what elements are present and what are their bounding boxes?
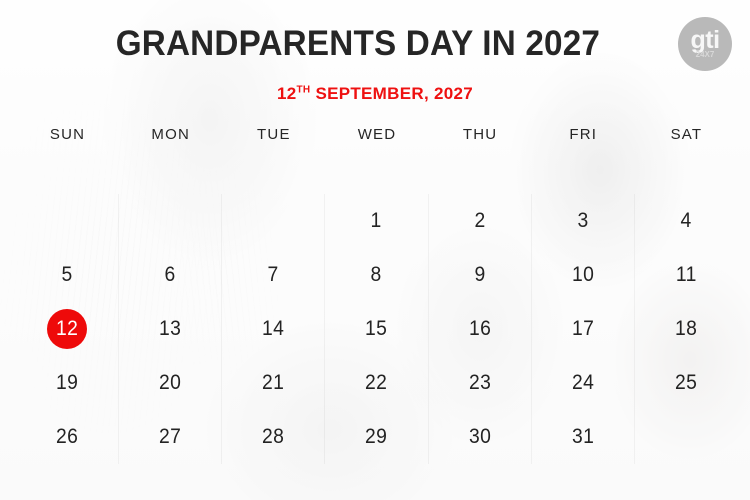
calendar-grid: 1234567891011121314151617181920212223242… [16,194,738,464]
calendar-day-cell[interactable]: 12 [16,302,119,356]
day-number: 11 [676,263,697,287]
day-number: 31 [572,425,594,449]
calendar-day-cell[interactable]: 5 [16,248,119,302]
calendar-day-cell[interactable]: 30 [429,410,532,464]
calendar-cell-empty [635,410,738,464]
calendar-day-cell[interactable]: 6 [119,248,222,302]
day-number: 28 [262,425,284,449]
calendar-day-cell[interactable]: 16 [429,302,532,356]
calendar-day-cell[interactable]: 11 [635,248,738,302]
day-number: 7 [268,263,279,287]
calendar-day-cell[interactable]: 28 [222,410,325,464]
calendar-day-cell[interactable]: 13 [119,302,222,356]
day-number: 21 [262,371,284,395]
day-number: 8 [371,263,382,287]
calendar-day-cell[interactable]: 22 [325,356,428,410]
page-subtitle: 12TH SEPTEMBER, 2027 [0,84,750,104]
logo-wordmark: gti [690,29,719,52]
day-number: 18 [675,317,697,341]
day-of-week-thu: THU [429,126,532,160]
gti-logo[interactable]: gti 24X7 [678,17,732,71]
calendar-cell-empty [16,194,119,248]
calendar-day-cell[interactable]: 21 [222,356,325,410]
calendar-day-cell[interactable]: 7 [222,248,325,302]
day-of-week-header-row: SUNMONTUEWEDTHUFRISAT [16,126,738,160]
day-of-week-mon: MON [119,126,222,160]
day-of-week-tue: TUE [222,126,325,160]
calendar-day-cell[interactable]: 9 [429,248,532,302]
calendar-day-cell[interactable]: 3 [532,194,635,248]
day-number: 9 [474,263,485,287]
calendar-day-cell[interactable]: 1 [325,194,428,248]
calendar-day-cell[interactable]: 27 [119,410,222,464]
calendar-day-cell[interactable]: 2 [429,194,532,248]
day-number: 17 [572,317,594,341]
calendar-day-cell[interactable]: 29 [325,410,428,464]
day-number: 13 [159,317,181,341]
day-number: 10 [572,263,594,287]
calendar-day-cell[interactable]: 4 [635,194,738,248]
day-of-week-sun: SUN [16,126,119,160]
day-number: 26 [56,425,78,449]
day-number: 14 [262,317,284,341]
day-number: 29 [365,425,387,449]
calendar-cell-empty [119,194,222,248]
day-number: 15 [365,317,387,341]
day-number: 3 [577,209,588,233]
day-number: 12 [56,317,78,341]
calendar-day-cell[interactable]: 10 [532,248,635,302]
calendar: SUNMONTUEWEDTHUFRISAT 123456789101112131… [16,126,738,464]
day-number: 22 [365,371,387,395]
calendar-day-cell[interactable]: 17 [532,302,635,356]
day-number: 30 [469,425,491,449]
day-number: 19 [56,371,78,395]
calendar-day-cell[interactable]: 23 [429,356,532,410]
day-number: 1 [371,209,382,233]
calendar-day-cell[interactable]: 24 [532,356,635,410]
calendar-page: GRANDPARENTS DAY IN 2027 12TH SEPTEMBER,… [0,0,750,500]
logo-tagline: 24X7 [696,50,715,59]
day-number: 27 [159,425,181,449]
day-number: 23 [469,371,491,395]
calendar-day-cell[interactable]: 19 [16,356,119,410]
day-number: 20 [159,371,181,395]
calendar-day-cell[interactable]: 26 [16,410,119,464]
calendar-day-cell[interactable]: 20 [119,356,222,410]
subtitle-rest: SEPTEMBER, 2027 [310,84,473,103]
day-number: 5 [61,263,72,287]
page-title: GRANDPARENTS DAY IN 2027 [19,24,732,64]
day-of-week-fri: FRI [532,126,635,160]
day-number: 16 [469,317,491,341]
calendar-day-cell[interactable]: 25 [635,356,738,410]
subtitle-ordinal: TH [296,84,310,95]
day-number: 4 [681,209,692,233]
calendar-day-cell[interactable]: 14 [222,302,325,356]
calendar-cell-empty [222,194,325,248]
calendar-day-cell[interactable]: 31 [532,410,635,464]
calendar-day-cell[interactable]: 15 [325,302,428,356]
day-of-week-sat: SAT [635,126,738,160]
calendar-day-cell[interactable]: 8 [325,248,428,302]
day-of-week-wed: WED [325,126,428,160]
day-number: 6 [165,263,176,287]
day-number: 2 [474,209,485,233]
day-number: 24 [572,371,594,395]
subtitle-day: 12 [277,84,297,103]
day-number: 25 [675,371,697,395]
calendar-day-cell[interactable]: 18 [635,302,738,356]
